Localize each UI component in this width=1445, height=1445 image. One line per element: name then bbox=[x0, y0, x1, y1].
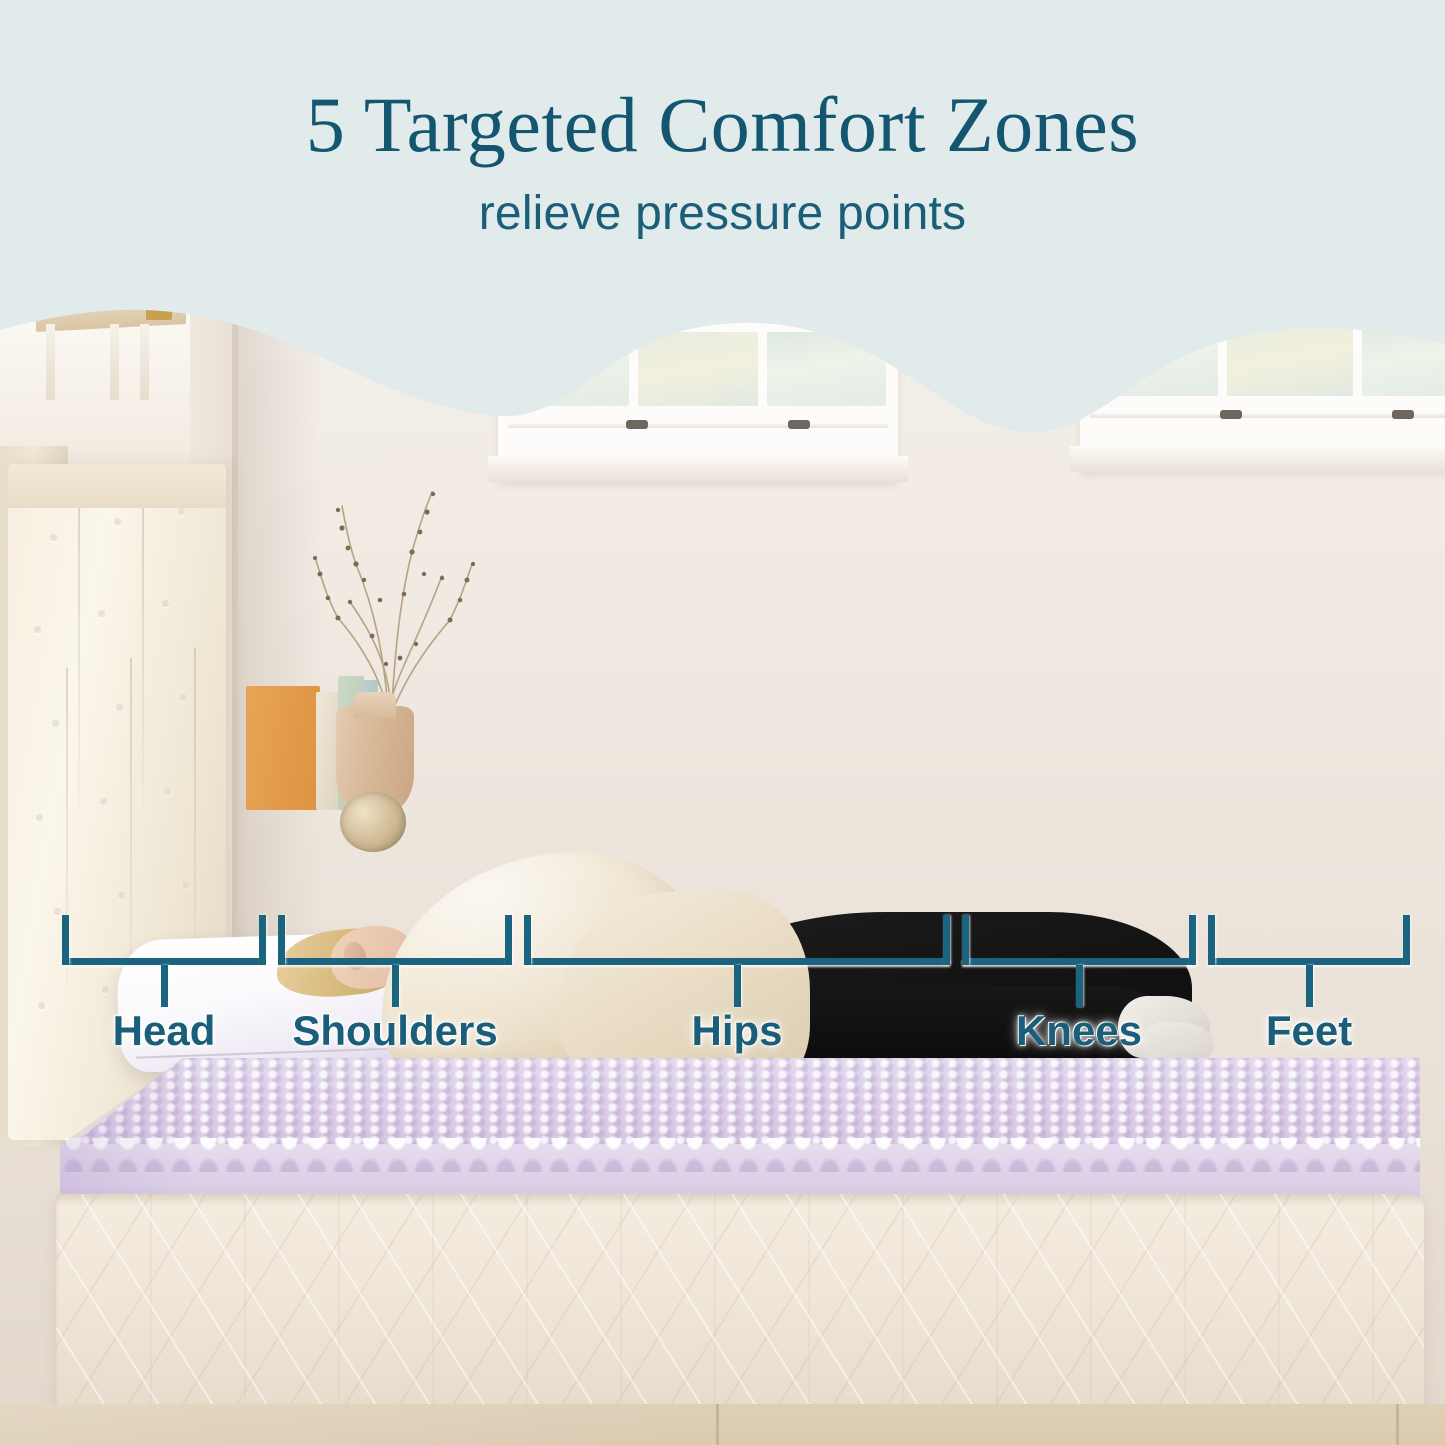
armoire-slat bbox=[140, 324, 149, 400]
base-seam bbox=[1396, 1404, 1399, 1445]
window-pane bbox=[1092, 322, 1218, 396]
armoire-slat bbox=[46, 324, 55, 400]
window-pane bbox=[767, 332, 886, 406]
header-block: 5 Targeted Comfort Zones relieve pressur… bbox=[0, 0, 1445, 300]
window-lower-sash bbox=[1088, 424, 1445, 446]
base-panel-left bbox=[0, 1404, 720, 1445]
product-photo bbox=[0, 296, 1445, 1445]
window-right bbox=[1080, 312, 1445, 472]
window-lock-icon bbox=[626, 420, 648, 429]
topper-scallop-edge bbox=[60, 1138, 1420, 1172]
window-lower-sash bbox=[506, 434, 890, 456]
window-lock-icon bbox=[1392, 410, 1414, 419]
infographic-canvas: 5 Targeted Comfort Zones relieve pressur… bbox=[0, 0, 1445, 1445]
round-mirror bbox=[340, 792, 406, 852]
window-pane bbox=[638, 332, 757, 406]
window-sash bbox=[510, 332, 886, 406]
topper-left-shading bbox=[60, 1058, 190, 1208]
headboard-top-rail bbox=[8, 464, 226, 508]
foam-topper bbox=[60, 1058, 1420, 1208]
sweater-hip bbox=[560, 892, 810, 1082]
window-pane bbox=[510, 332, 629, 406]
window-lock-icon bbox=[788, 420, 810, 429]
window-pane bbox=[1362, 322, 1445, 396]
window-sash bbox=[1092, 322, 1445, 396]
page-subtitle: relieve pressure points bbox=[0, 186, 1445, 241]
base-seam bbox=[716, 1404, 719, 1445]
brass-hardware bbox=[146, 304, 172, 320]
window-sill bbox=[488, 456, 908, 482]
quilted-mattress bbox=[56, 1194, 1424, 1416]
window-rail bbox=[508, 422, 888, 428]
bed-base bbox=[0, 1404, 1445, 1445]
window-pane bbox=[1227, 322, 1353, 396]
page-title: 5 Targeted Comfort Zones bbox=[0, 86, 1445, 164]
window-sill bbox=[1070, 446, 1445, 472]
window-lock-icon bbox=[1220, 410, 1242, 419]
armoire-slat bbox=[110, 324, 119, 400]
book-orange bbox=[246, 686, 320, 810]
quilt-pattern bbox=[56, 1194, 1424, 1416]
nightstand-vignette bbox=[240, 476, 470, 896]
window-left bbox=[498, 322, 898, 482]
